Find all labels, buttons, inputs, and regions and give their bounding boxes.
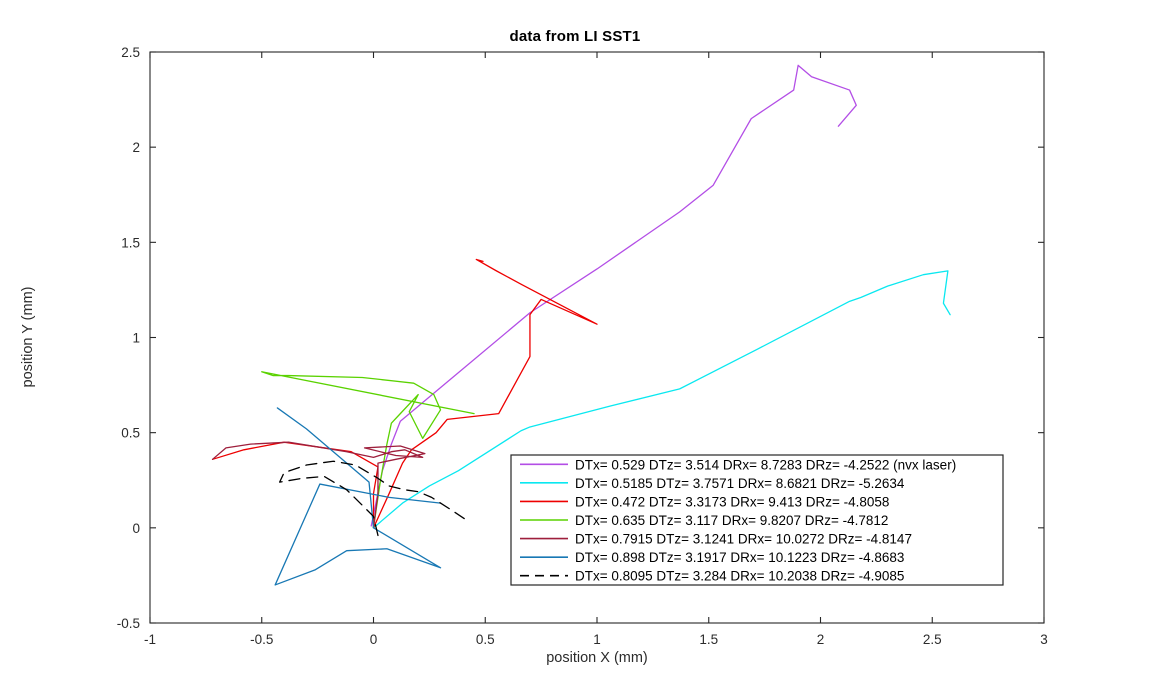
figure-canvas: data from LI SST1 -1-0.500.511.522.53 -0… <box>0 0 1150 700</box>
x-tick-label: -0.5 <box>250 632 273 647</box>
x-tick-label: 1 <box>593 632 601 647</box>
plot-svg: -1-0.500.511.522.53 -0.500.511.522.5 DTx… <box>0 0 1150 700</box>
legend-label-5[interactable]: DTx= 0.898 DTz= 3.1917 DRx= 10.1223 DRz=… <box>575 550 904 565</box>
y-tick-label: -0.5 <box>117 616 140 631</box>
y-tick-label: 0 <box>132 521 140 536</box>
legend-label-1[interactable]: DTx= 0.5185 DTz= 3.7571 DRx= 8.6821 DRz=… <box>575 476 905 491</box>
x-tick-label: 0 <box>370 632 378 647</box>
x-tick-label: -1 <box>144 632 156 647</box>
legend-box[interactable]: DTx= 0.529 DTz= 3.514 DRx= 8.7283 DRz= -… <box>511 455 1003 585</box>
x-tick-label: 0.5 <box>476 632 495 647</box>
y-tick-label: 2 <box>132 140 140 155</box>
x-tick-label: 2 <box>817 632 825 647</box>
y-tick-label: 0.5 <box>121 426 140 441</box>
y-tick-label: 1.5 <box>121 235 140 250</box>
y-axis-label: position Y (mm) <box>20 287 36 388</box>
legend-label-3[interactable]: DTx= 0.635 DTz= 3.117 DRx= 9.8207 DRz= -… <box>575 513 888 528</box>
x-tick-label: 3 <box>1040 632 1048 647</box>
legend-label-2[interactable]: DTx= 0.472 DTz= 3.3173 DRx= 9.413 DRz= -… <box>575 494 889 509</box>
x-axis-label: position X (mm) <box>546 650 648 666</box>
x-tick-label: 1.5 <box>699 632 718 647</box>
y-tick-label: 1 <box>132 331 140 346</box>
x-tick-label: 2.5 <box>923 632 942 647</box>
legend-label-6[interactable]: DTx= 0.8095 DTz= 3.284 DRx= 10.2038 DRz=… <box>575 569 904 584</box>
legend-label-0[interactable]: DTx= 0.529 DTz= 3.514 DRx= 8.7283 DRz= -… <box>575 457 956 472</box>
legend-label-4[interactable]: DTx= 0.7915 DTz= 3.1241 DRx= 10.0272 DRz… <box>575 532 912 547</box>
y-tick-label: 2.5 <box>121 45 140 60</box>
series-line-5 <box>275 408 440 585</box>
